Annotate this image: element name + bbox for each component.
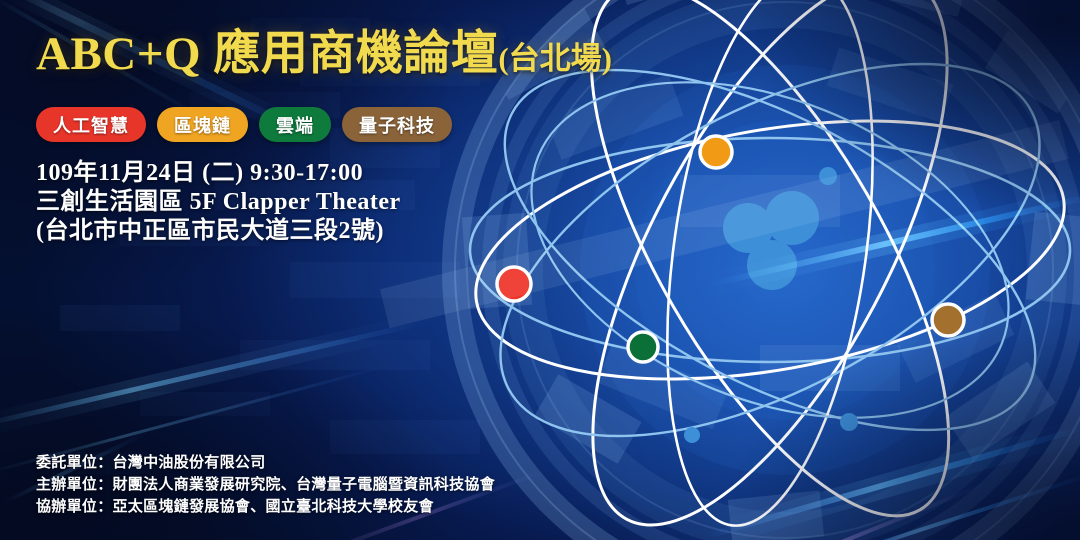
electron-green — [628, 332, 658, 362]
event-info: 109年11月24日 (二) 9:30-17:00 三創生活園區 5F Clap… — [36, 159, 401, 246]
organizing-unit: 主辦單位：財團法人商業發展研究院、台灣量子電腦暨資訊科技協會 — [36, 474, 495, 496]
nucleus — [723, 191, 819, 290]
tag-quantum[interactable]: 量子科技 — [342, 107, 452, 142]
tech-circle-graphic — [430, 0, 1080, 540]
page-title: ABC+Q 應用商機論壇(台北場) — [36, 30, 612, 79]
topic-tag-list: 人工智慧 區塊鏈 雲端 量子科技 — [36, 107, 452, 142]
commissioning-unit: 委託單位：台灣中油股份有限公司 — [36, 452, 495, 474]
electron-brown — [932, 304, 964, 336]
title-suffix-text: (台北場) — [498, 41, 612, 76]
title-main-text: ABC+Q 應用商機論壇 — [36, 28, 498, 80]
organizer-info: 委託單位：台灣中油股份有限公司 主辦單位：財團法人商業發展研究院、台灣量子電腦暨… — [36, 452, 495, 518]
tag-cloud[interactable]: 雲端 — [259, 107, 331, 142]
small-electron-dots — [684, 167, 858, 443]
co-organizing-unit: 協辦單位：亞太區塊鏈發展協會、國立臺北科技大學校友會 — [36, 496, 495, 518]
event-address: (台北市中正區市民大道三段2號) — [36, 217, 401, 246]
tag-ai[interactable]: 人工智慧 — [36, 107, 146, 142]
event-datetime: 109年11月24日 (二) 9:30-17:00 — [36, 159, 401, 188]
atom-orbits-graphic — [430, 0, 1080, 540]
event-venue: 三創生活園區 5F Clapper Theater — [36, 188, 401, 217]
banner-content: ABC+Q 應用商機論壇(台北場) 人工智慧 區塊鏈 雲端 量子科技 109年1… — [0, 0, 520, 540]
event-banner: ABC+Q 應用商機論壇(台北場) 人工智慧 區塊鏈 雲端 量子科技 109年1… — [0, 0, 1080, 540]
electron-orange — [700, 136, 732, 168]
tag-blockchain[interactable]: 區塊鏈 — [157, 107, 248, 142]
